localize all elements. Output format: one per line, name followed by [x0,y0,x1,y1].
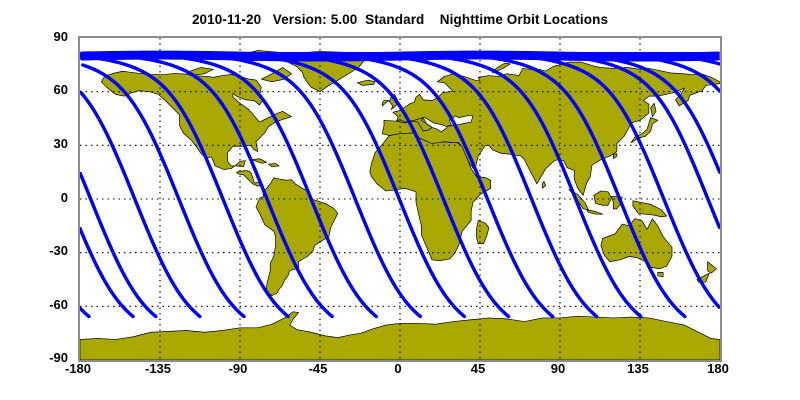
orbit-track-15 [80,229,133,317]
x-tick-label-m135: -135 [128,361,188,376]
y-tick-label-60: 60 [22,82,68,97]
orbit-track-14 [80,308,89,316]
orbit-track-1 [80,174,156,317]
orbit-track-1 [80,174,156,317]
orbit-track-5 [81,54,332,317]
x-tick-label-m180: -180 [48,361,108,376]
orbit-track-5 [81,54,332,317]
orbit-track-15 [80,229,133,317]
orbit-track-4 [80,56,288,316]
y-tick-label-m60: -60 [22,297,68,312]
orbit-track-1 [80,174,156,317]
y-tick-label-m30: -30 [22,243,68,258]
map-clip [80,38,720,360]
map-plot-area [78,36,722,362]
y-tick-label-90: 90 [22,29,68,44]
x-tick-label-180: 180 [688,361,748,376]
y-tick-label-0: 0 [22,190,68,205]
x-tick-label-90: 90 [528,361,588,376]
orbit-track-15 [484,54,720,228]
chart-title: 2010-11-20 Version: 5.00 Standard Nightt… [0,12,800,27]
x-tick-label-m45: -45 [288,361,348,376]
y-tick-label-30: 30 [22,136,68,151]
orbit-ground-tracks [80,52,720,316]
x-tick-label-135: 135 [608,361,668,376]
x-tick-label-m90: -90 [208,361,268,376]
orbit-track-15 [80,229,133,317]
orbit-track-layer [80,38,720,360]
orbit-track-5 [81,54,332,317]
orbit-map-figure: 2010-11-20 Version: 5.00 Standard Nightt… [0,0,800,400]
x-tick-label-45: 45 [448,361,508,376]
x-tick-label-0: 0 [368,361,428,376]
